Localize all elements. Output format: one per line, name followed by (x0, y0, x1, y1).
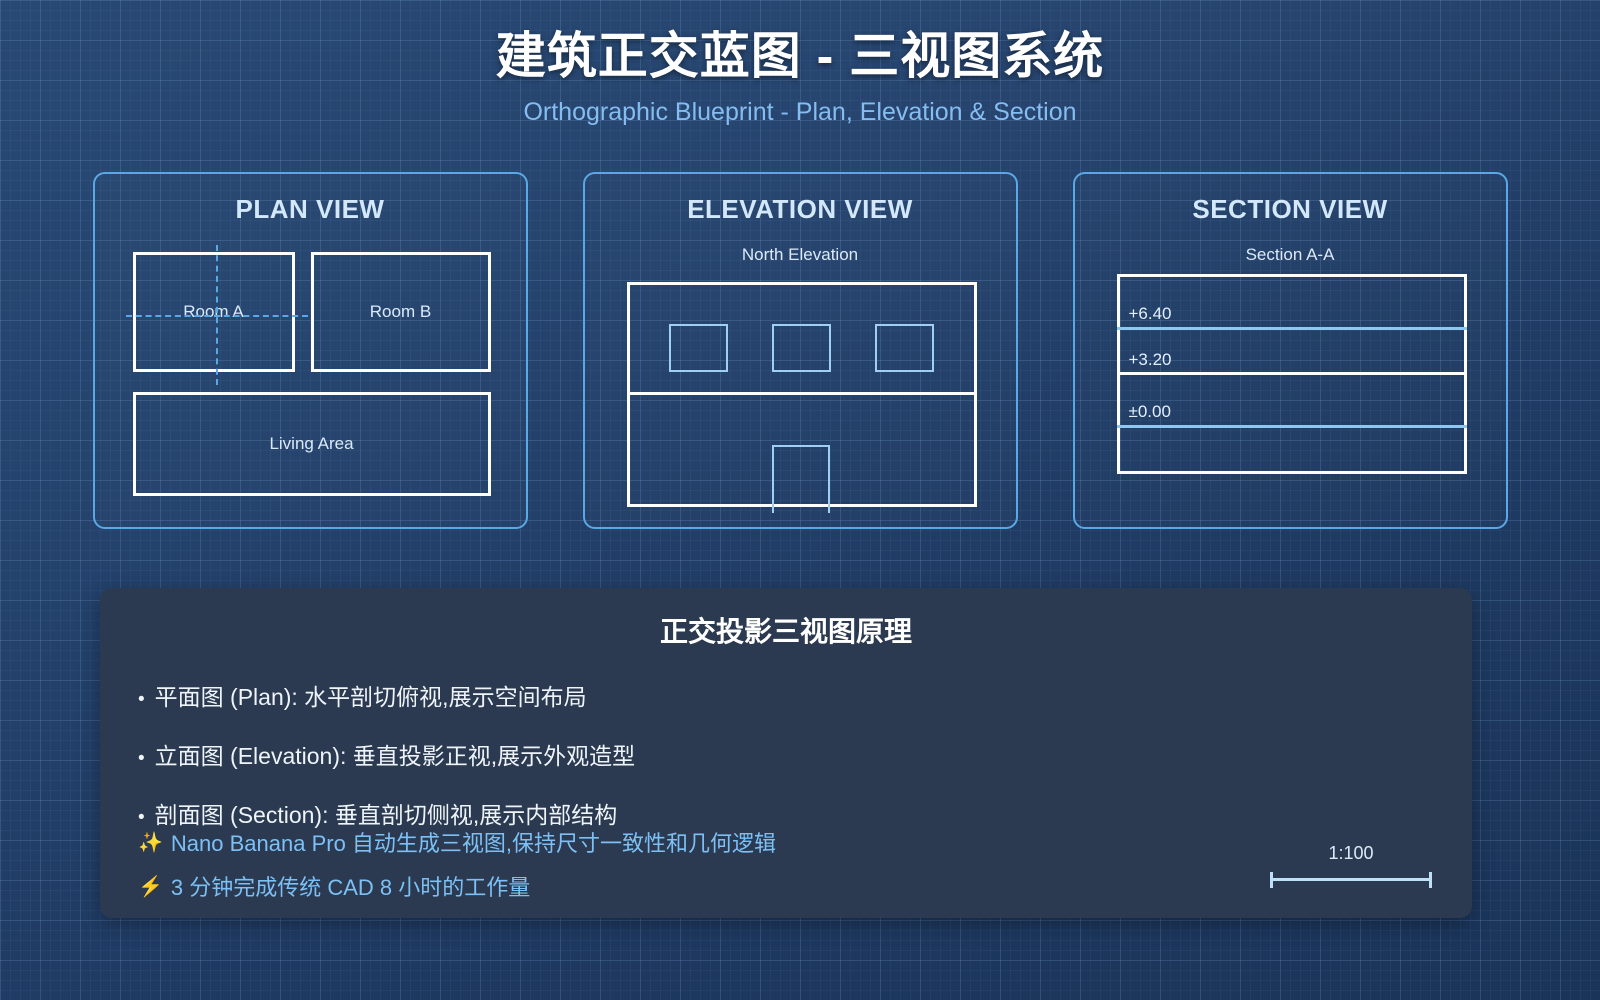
section-drawing: +6.40 +3.20 ±0.00 (1117, 274, 1467, 474)
panel-elevation-view[interactable]: ELEVATION VIEW North Elevation (583, 172, 1018, 529)
highlight-text: 3 分钟完成传统 CAD 8 小时的工作量 (171, 870, 530, 902)
bullet-marker-icon: • (138, 748, 145, 770)
plan-room-living[interactable]: Living Area (133, 392, 491, 496)
view-panels: PLAN VIEW Room A Room B Living Area ELEV… (0, 172, 1600, 529)
plan-room-a[interactable]: Room A (133, 252, 295, 372)
lightning-bolt-icon: ⚡ (138, 874, 163, 899)
list-item: • 立面图 (Elevation): 垂直投影正视,展示外观造型 (138, 737, 1472, 771)
info-highlight-list: ✨ Nano Banana Pro 自动生成三视图,保持尺寸一致性和几何逻辑 ⚡… (138, 826, 776, 914)
list-item: • 剖面图 (Section): 垂直剖切侧视,展示内部结构 (138, 796, 1472, 830)
elevation-window-3 (875, 324, 934, 372)
elevation-window-1 (669, 324, 728, 372)
page-header: 建筑正交蓝图 - 三视图系统 Orthographic Blueprint - … (0, 0, 1600, 127)
plan-drawing: Room A Room B Living Area (133, 252, 491, 502)
sparkles-icon: ✨ (138, 830, 163, 855)
plan-room-b-label: Room B (370, 302, 431, 322)
highlight-item-bolt: ⚡ 3 分钟完成传统 CAD 8 小时的工作量 (138, 870, 776, 902)
page-subtitle: Orthographic Blueprint - Plan, Elevation… (0, 98, 1600, 127)
page-title: 建筑正交蓝图 - 三视图系统 (0, 16, 1600, 88)
elevation-floor-divider (627, 392, 977, 395)
bullet-text: 剖面图 (Section): 垂直剖切侧视,展示内部结构 (155, 796, 618, 830)
section-view-subtitle: Section A-A (1075, 245, 1506, 265)
plan-room-a-label: Room A (183, 302, 243, 322)
plan-room-b[interactable]: Room B (311, 252, 491, 372)
section-view-title: SECTION VIEW (1075, 194, 1506, 225)
elevation-drawing (627, 282, 977, 507)
list-item: • 平面图 (Plan): 水平剖切俯视,展示空间布局 (138, 678, 1472, 712)
bullet-text: 立面图 (Elevation): 垂直投影正视,展示外观造型 (155, 737, 636, 771)
bullet-text: 平面图 (Plan): 水平剖切俯视,展示空间布局 (155, 678, 587, 712)
section-level-line-000 (1117, 425, 1467, 428)
scale-bar: 1:100 (1270, 843, 1432, 886)
panel-plan-view[interactable]: PLAN VIEW Room A Room B Living Area (93, 172, 528, 529)
elevation-view-title: ELEVATION VIEW (585, 194, 1016, 225)
section-level-label-320: +3.20 (1129, 350, 1172, 370)
info-panel: 正交投影三视图原理 • 平面图 (Plan): 水平剖切俯视,展示空间布局 • … (100, 588, 1472, 918)
elevation-door (772, 445, 830, 513)
elevation-window-2 (772, 324, 831, 372)
blueprint-page: 建筑正交蓝图 - 三视图系统 Orthographic Blueprint - … (0, 0, 1600, 1000)
section-level-label-000: ±0.00 (1129, 402, 1171, 422)
section-level-label-640: +6.40 (1129, 304, 1172, 324)
scale-bar-graphic (1270, 872, 1432, 886)
panel-section-view[interactable]: SECTION VIEW Section A-A +6.40 +3.20 ±0.… (1073, 172, 1508, 529)
scale-label: 1:100 (1270, 843, 1432, 864)
bullet-marker-icon: • (138, 689, 145, 711)
plan-room-living-label: Living Area (269, 434, 353, 454)
highlight-item-sparkle: ✨ Nano Banana Pro 自动生成三视图,保持尺寸一致性和几何逻辑 (138, 826, 776, 858)
scale-bar-line (1270, 878, 1432, 881)
scale-tick-right-icon (1429, 872, 1432, 888)
scale-tick-left-icon (1270, 872, 1273, 888)
plan-view-title: PLAN VIEW (95, 194, 526, 225)
info-bullet-list: • 平面图 (Plan): 水平剖切俯视,展示空间布局 • 立面图 (Eleva… (100, 678, 1472, 830)
section-slab-line-320 (1117, 372, 1467, 375)
section-level-line-640 (1117, 327, 1467, 330)
highlight-text: Nano Banana Pro 自动生成三视图,保持尺寸一致性和几何逻辑 (171, 826, 776, 858)
elevation-view-subtitle: North Elevation (585, 245, 1016, 265)
info-panel-title: 正交投影三视图原理 (100, 610, 1472, 650)
